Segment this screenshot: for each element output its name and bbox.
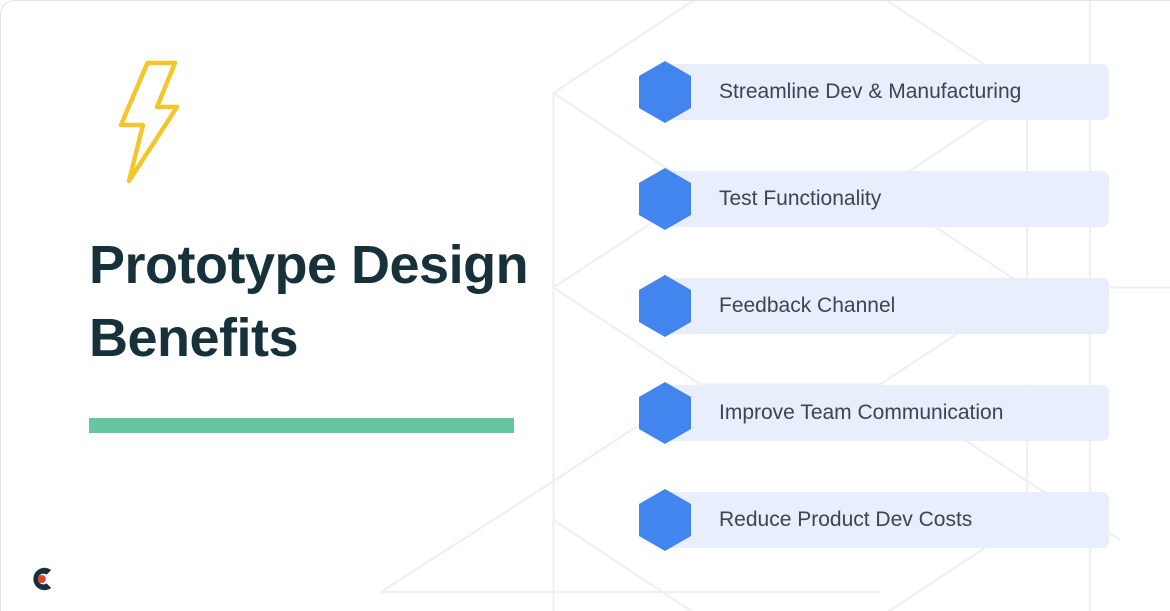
brand-logo-c xyxy=(27,564,57,594)
list-item[interactable]: Improve Team Communication xyxy=(637,381,1109,445)
benefits-list: Streamline Dev & Manufacturing Test Func… xyxy=(637,60,1109,552)
benefit-label: Test Functionality xyxy=(719,187,881,211)
title-column: Prototype Design Benefits xyxy=(89,1,559,611)
list-item[interactable]: Test Functionality xyxy=(637,167,1109,231)
benefit-label: Improve Team Communication xyxy=(719,401,1003,425)
benefit-label: Streamline Dev & Manufacturing xyxy=(719,80,1021,104)
benefit-label: Reduce Product Dev Costs xyxy=(719,508,972,532)
hexagon-bullet-icon xyxy=(637,488,693,552)
page-title-line-1: Prototype Design xyxy=(89,235,528,295)
lightning-bolt-icon xyxy=(113,59,185,190)
benefit-label: Feedback Channel xyxy=(719,294,895,318)
list-item[interactable]: Streamline Dev & Manufacturing xyxy=(637,60,1109,124)
accent-bar xyxy=(89,418,514,433)
hexagon-bullet-icon xyxy=(637,274,693,338)
hexagon-bullet-icon xyxy=(637,167,693,231)
slide-canvas: Prototype Design Benefits Streamline Dev… xyxy=(0,0,1170,611)
hexagon-bullet-icon xyxy=(637,60,693,124)
hexagon-bullet-icon xyxy=(637,381,693,445)
list-item[interactable]: Reduce Product Dev Costs xyxy=(637,488,1109,552)
page-title-line-2: Benefits xyxy=(89,308,298,368)
list-item[interactable]: Feedback Channel xyxy=(637,274,1109,338)
page-title: Prototype Design Benefits xyxy=(89,229,539,375)
